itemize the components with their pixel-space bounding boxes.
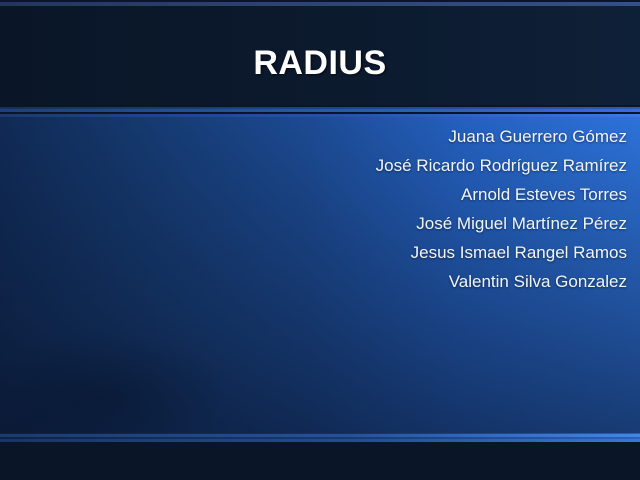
title-separator-band	[0, 105, 640, 117]
author-name: Valentin Silva Gonzalez	[180, 267, 627, 296]
author-name: Jesus Ismael Rangel Ramos	[180, 238, 627, 267]
author-name: José Miguel Martínez Pérez	[180, 209, 627, 238]
author-name: José Ricardo Rodríguez Ramírez	[180, 151, 627, 180]
slide-footer-band	[0, 442, 640, 480]
presentation-slide: RADIUS Juana Guerrero Gómez José Ricardo…	[0, 0, 640, 480]
author-name: Arnold Esteves Torres	[180, 180, 627, 209]
bottom-separator-band	[0, 433, 640, 442]
author-list: Juana Guerrero Gómez José Ricardo Rodríg…	[180, 122, 627, 296]
slide-title: RADIUS	[0, 44, 640, 82]
title-band: RADIUS	[0, 6, 640, 105]
author-name: Juana Guerrero Gómez	[180, 122, 627, 151]
